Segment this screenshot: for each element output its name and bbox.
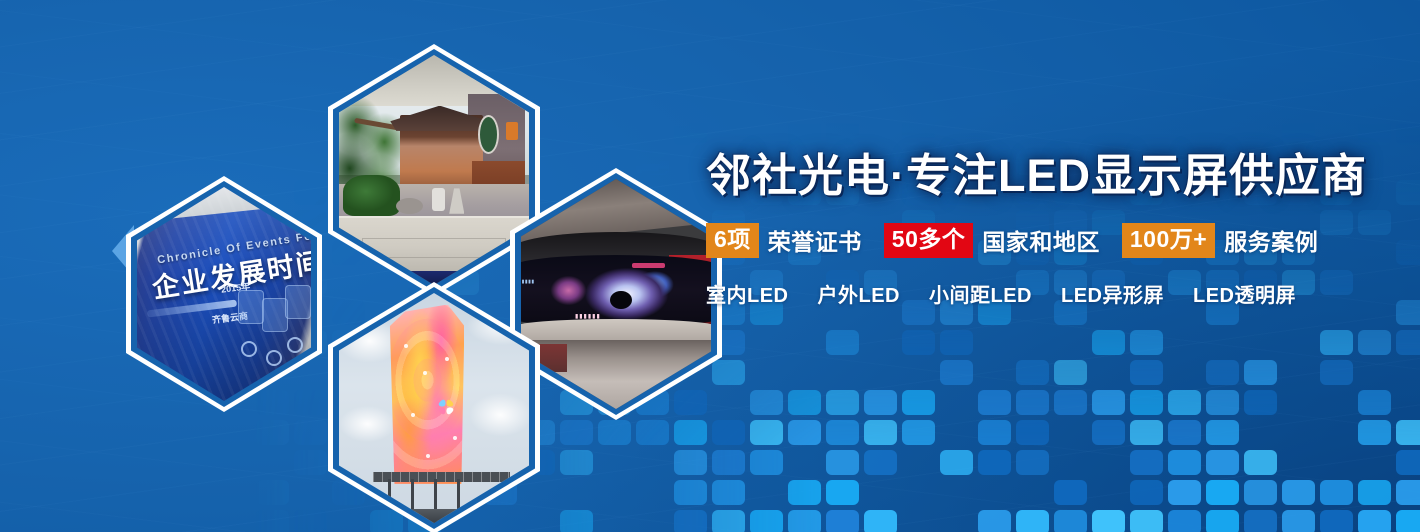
product-tag-creative[interactable]: LED异形屏	[1061, 279, 1164, 308]
hexagon-timeline: Chronicle Of Events For Enterprise 企业发展时…	[126, 176, 322, 412]
stat-label-certificates: 荣誉证书	[768, 223, 862, 257]
banner-copy: 邻社光电·专注LED显示屏供应商 6项 荣誉证书 50多个 国家和地区 100万…	[706, 152, 1346, 308]
stat-badge-countries: 50多个	[884, 223, 974, 258]
stat-label-countries: 国家和地区	[982, 223, 1100, 257]
hexagon-mall-screen: ▮▮▮▮ ▮▮▮▮▮▮	[510, 168, 722, 420]
stat-label-cases: 服务案例	[1224, 223, 1318, 257]
hexagon-outdoor-billboard	[328, 282, 540, 532]
product-tags-row: 室内LED 户外LED 小间距LED LED异形屏 LED透明屏	[706, 279, 1346, 308]
product-tag-fine-pitch[interactable]: 小间距LED	[929, 279, 1032, 308]
led-promo-banner: Chronicle Of Events For Enterprise 企业发展时…	[0, 0, 1420, 532]
stats-row: 6项 荣誉证书 50多个 国家和地区 100万+ 服务案例	[706, 223, 1346, 258]
product-tag-transparent[interactable]: LED透明屏	[1193, 279, 1296, 308]
stat-badge-cases: 100万+	[1122, 223, 1215, 258]
product-tag-indoor[interactable]: 室内LED	[706, 279, 789, 308]
product-tag-outdoor[interactable]: 户外LED	[818, 279, 901, 308]
stat-badge-certificates: 6项	[706, 223, 759, 258]
page-title: 邻社光电·专注LED显示屏供应商	[706, 152, 1346, 201]
hexagon-garden	[328, 44, 540, 296]
hexagon-gallery: Chronicle Of Events For Enterprise 企业发展时…	[0, 0, 760, 532]
